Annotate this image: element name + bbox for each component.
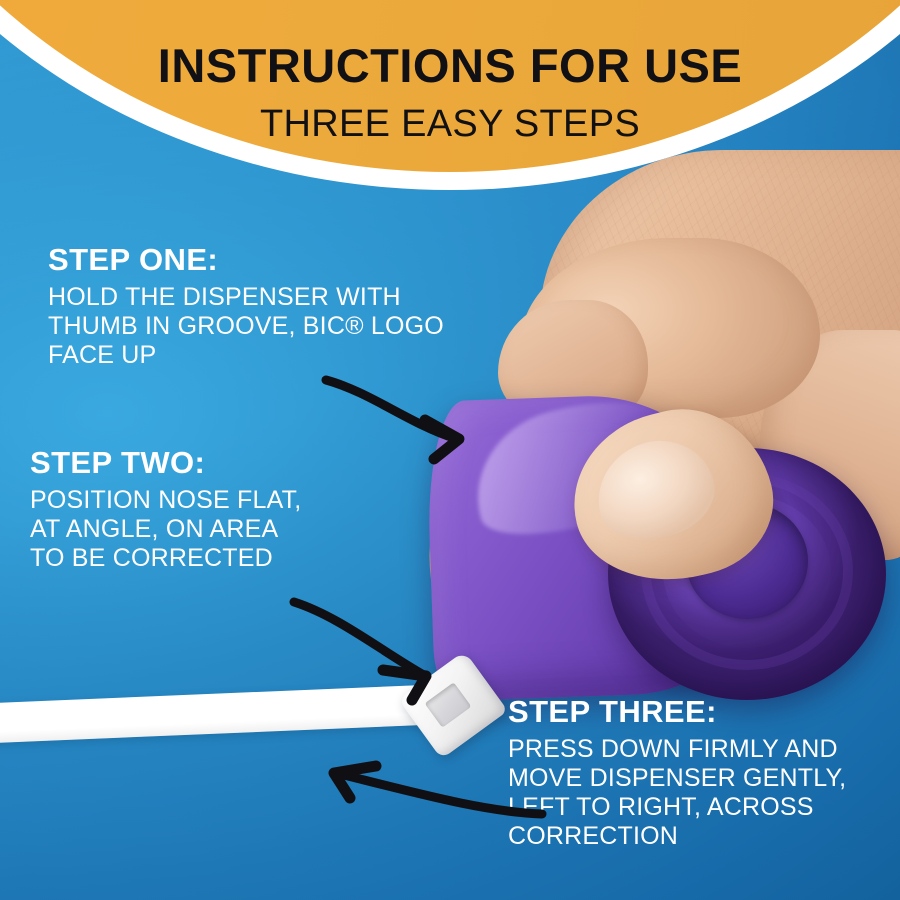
step-one-block: STEP ONE: HOLD THE DISPENSER WITH THUMB … — [48, 244, 444, 370]
step-three-line-2: MOVE DISPENSER GENTLY, — [508, 764, 846, 793]
page-title: INSTRUCTIONS FOR USE — [0, 42, 900, 89]
step-one-line-2: THUMB IN GROOVE, BIC® LOGO — [48, 312, 444, 341]
step-one-title: STEP ONE: — [48, 244, 444, 277]
step-one-arrow-icon — [318, 366, 518, 481]
step-three-title: STEP THREE: — [508, 696, 846, 729]
step-one-line-1: HOLD THE DISPENSER WITH — [48, 283, 444, 312]
step-two-block: STEP TWO: POSITION NOSE FLAT, AT ANGLE, … — [30, 447, 301, 573]
header-text-group: INSTRUCTIONS FOR USE THREE EASY STEPS — [0, 0, 900, 143]
step-three-line-1: PRESS DOWN FIRMLY AND — [508, 735, 846, 764]
instructions-graphic: INSTRUCTIONS FOR USE THREE EASY STEPS ST… — [0, 0, 900, 900]
step-two-title: STEP TWO: — [30, 447, 301, 480]
step-two-body: POSITION NOSE FLAT, AT ANGLE, ON AREA TO… — [30, 486, 301, 574]
step-two-arrow-icon — [288, 596, 488, 716]
step-two-line-3: TO BE CORRECTED — [30, 544, 301, 573]
step-two-line-1: POSITION NOSE FLAT, — [30, 486, 301, 515]
step-three-body: PRESS DOWN FIRMLY AND MOVE DISPENSER GEN… — [508, 735, 846, 852]
step-three-line-3: LEFT TO RIGHT, ACROSS — [508, 793, 846, 822]
step-three-arrow-icon — [310, 760, 550, 835]
step-three-line-4: CORRECTION — [508, 822, 846, 851]
step-one-body: HOLD THE DISPENSER WITH THUMB IN GROOVE,… — [48, 283, 444, 371]
step-three-block: STEP THREE: PRESS DOWN FIRMLY AND MOVE D… — [508, 696, 846, 852]
page-subtitle: THREE EASY STEPS — [0, 105, 900, 143]
step-two-line-2: AT ANGLE, ON AREA — [30, 515, 301, 544]
